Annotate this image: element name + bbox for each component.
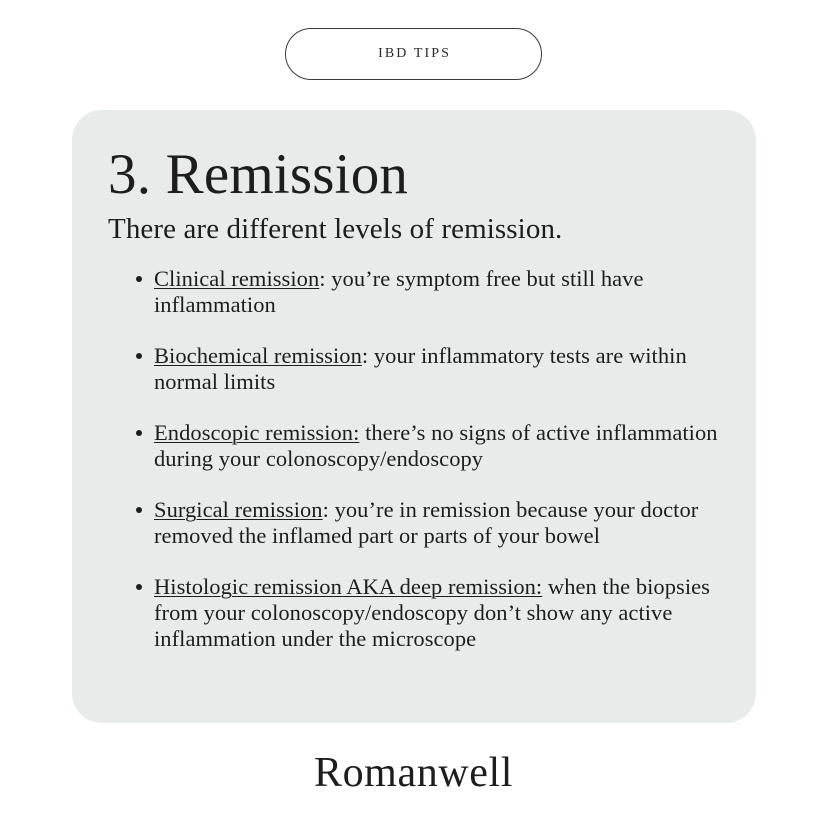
badge-row: IBD TIPS [0, 28, 827, 80]
page-subtitle: There are different levels of remission. [108, 212, 720, 247]
category-badge: IBD TIPS [285, 28, 542, 80]
list-item-term: Histologic remission AKA deep remission: [154, 574, 542, 599]
remission-types-list: Clinical remission: you’re symptom free … [108, 266, 720, 652]
slide-canvas: IBD TIPS 3. Remission There are differen… [0, 0, 827, 828]
page-title: 3. Remission [108, 144, 720, 206]
list-item-term: Endoscopic remission: [154, 420, 359, 445]
list-item-term: Surgical remission [154, 497, 323, 522]
category-badge-label: IBD TIPS [376, 47, 451, 61]
list-item: Histologic remission AKA deep remission:… [136, 574, 720, 652]
list-item: Endoscopic remission: there’s no signs o… [136, 420, 720, 472]
list-item-term: Clinical remission [154, 266, 319, 291]
list-item: Surgical remission: you’re in remission … [136, 497, 720, 549]
content-card: 3. Remission There are different levels … [72, 110, 756, 723]
list-item-term: Biochemical remission [154, 343, 362, 368]
brand-wordmark: Romanwell [314, 752, 513, 794]
list-item: Biochemical remission: your inflammatory… [136, 343, 720, 395]
footer: Romanwell [0, 752, 827, 794]
list-item: Clinical remission: you’re symptom free … [136, 266, 720, 318]
